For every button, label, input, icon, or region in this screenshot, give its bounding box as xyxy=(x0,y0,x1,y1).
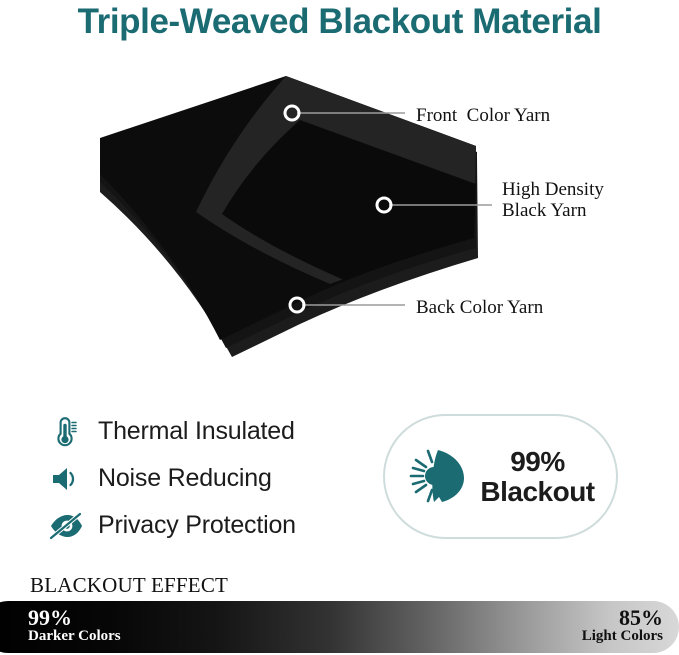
speaker-sound-icon xyxy=(46,461,86,497)
feature-label-noise-reducing: Noise Reducing xyxy=(98,464,272,493)
light-colors-percent: 85% xyxy=(582,607,663,629)
callout-label-high-density: High DensityBlack Yarn xyxy=(502,179,604,222)
blackout-effect-heading: BLACKOUT EFFECT xyxy=(30,573,228,598)
feature-item-privacy-protection: Privacy Protection xyxy=(46,502,366,549)
darker-colors-caption: Darker Colors xyxy=(28,629,121,644)
sun-behind-curtain-icon xyxy=(406,446,472,508)
feature-label-thermal-insulated: Thermal Insulated xyxy=(98,417,295,446)
blackout-badge-text: 99% Blackout xyxy=(480,447,594,505)
callout-label-front: Front Color Yarn xyxy=(416,105,550,126)
feature-label-privacy-protection: Privacy Protection xyxy=(98,511,296,540)
callout-label-back: Back Color Yarn xyxy=(416,297,543,318)
feature-list: Thermal Insulated Noise Reducing Privacy… xyxy=(46,408,366,549)
thermometer-icon xyxy=(46,414,86,450)
feature-item-noise-reducing: Noise Reducing xyxy=(46,455,366,502)
eye-slash-icon xyxy=(46,508,86,544)
light-colors-caption: Light Colors xyxy=(582,629,663,644)
page-title: Triple-Weaved Blackout Material xyxy=(0,2,679,42)
gradient-bar-left-group: 99% Darker Colors xyxy=(28,607,121,645)
blackout-effect-gradient-bar: 99% Darker Colors 85% Light Colors xyxy=(0,601,679,653)
blackout-badge: 99% Blackout xyxy=(383,414,618,539)
blackout-percent: 99% xyxy=(480,447,594,476)
feature-item-thermal-insulated: Thermal Insulated xyxy=(46,408,366,455)
blackout-word: Blackout xyxy=(480,477,594,506)
gradient-bar-right-group: 85% Light Colors xyxy=(582,607,663,645)
darker-colors-percent: 99% xyxy=(28,607,121,629)
